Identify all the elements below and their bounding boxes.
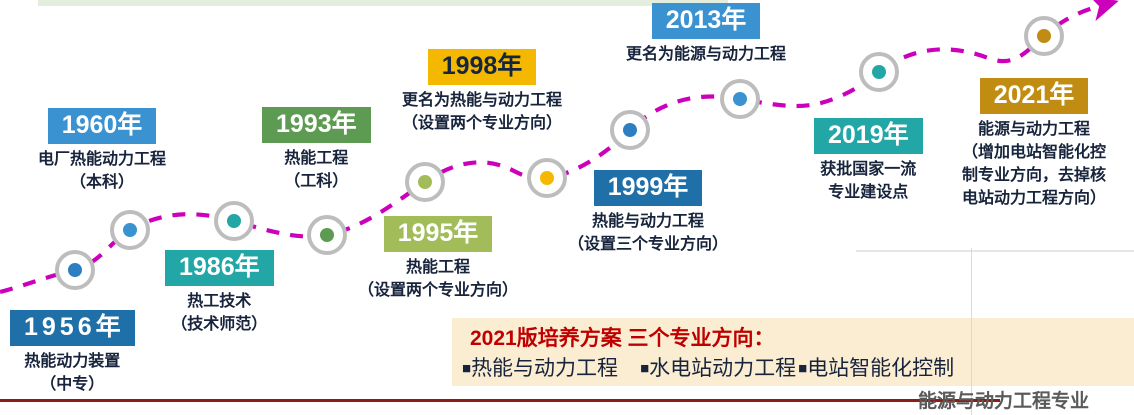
entry-description-line: （工科）	[262, 171, 371, 193]
slide-canvas: 能源与动力工程专业发展历程 1956年热能动力装置（中专）1960年电厂热能动力…	[0, 0, 1134, 415]
timeline-node-1956[interactable]	[55, 250, 95, 290]
timeline-entry-1956[interactable]: 1956年热能动力装置（中专）	[10, 310, 135, 396]
node-dot-icon	[540, 171, 554, 185]
training-plan-item: 电站智能化控制	[807, 357, 954, 380]
timeline-node-1995[interactable]	[405, 162, 445, 202]
timeline-entry-1993[interactable]: 1993年热能工程（工科）	[262, 107, 371, 193]
timeline-node-2013[interactable]	[720, 79, 760, 119]
timeline-node-1998[interactable]	[527, 158, 567, 198]
entry-description-line: （设置两个专业方向）	[402, 113, 562, 135]
entry-description-line: （本科）	[38, 172, 166, 194]
node-dot-icon	[227, 214, 241, 228]
bullet-square-icon: ■	[462, 360, 471, 377]
entry-description-line: （设置两个专业方向）	[358, 280, 518, 302]
entry-description-line: 更名为热能与动力工程	[402, 90, 562, 112]
year-badge-2019[interactable]: 2019年	[814, 118, 923, 154]
timeline-node-1993[interactable]	[307, 215, 347, 255]
timeline-entry-1986[interactable]: 1986年热工技术（技术师范）	[165, 250, 274, 336]
node-dot-icon	[68, 263, 82, 277]
year-badge-1960[interactable]: 1960年	[48, 108, 157, 144]
timeline-entry-1960[interactable]: 1960年电厂热能动力工程（本科）	[38, 108, 166, 194]
year-badge-1986[interactable]: 1986年	[165, 250, 274, 286]
timeline-node-2019[interactable]	[859, 52, 899, 92]
footer-rule	[0, 399, 1000, 402]
training-plan-item: 水电站动力工程	[649, 357, 796, 380]
year-badge-1956[interactable]: 1956年	[10, 310, 135, 346]
node-dot-icon	[123, 223, 137, 237]
entry-description-line: 热工技术	[165, 291, 274, 313]
entry-description-line: 热能与动力工程	[568, 211, 728, 233]
entry-description-line: （设置三个专业方向）	[568, 234, 728, 256]
entry-description-line: 制专业方向，去掉核	[962, 165, 1106, 187]
timeline-node-1960[interactable]	[110, 210, 150, 250]
entry-description-line: 更名为能源与动力工程	[626, 44, 786, 66]
timeline-node-1986[interactable]	[214, 201, 254, 241]
entry-description-line: 热能工程	[358, 257, 518, 279]
year-badge-1998[interactable]: 1998年	[428, 49, 537, 85]
timeline-node-2021[interactable]	[1024, 16, 1064, 56]
year-badge-1995[interactable]: 1995年	[384, 216, 493, 252]
year-badge-1993[interactable]: 1993年	[262, 107, 371, 143]
entry-description-line: （增加电站智能化控	[962, 142, 1106, 164]
node-dot-icon	[320, 228, 334, 242]
corner-divider	[856, 250, 1134, 252]
bullet-square-icon: ■	[640, 360, 649, 377]
timeline-entry-1999[interactable]: 1999年热能与动力工程（设置三个专业方向）	[568, 170, 728, 256]
entry-description-line: 获批国家一流	[814, 159, 923, 181]
year-badge-2021[interactable]: 2021年	[980, 78, 1089, 114]
node-dot-icon	[623, 123, 637, 137]
bullet-square-icon: ■	[798, 360, 807, 377]
timeline-entry-2021[interactable]: 2021年能源与动力工程（增加电站智能化控制专业方向，去掉核电站动力工程方向）	[962, 78, 1106, 210]
timeline-entry-2019[interactable]: 2019年获批国家一流专业建设点	[814, 118, 923, 204]
entry-description-line: （技术师范）	[165, 314, 274, 336]
entry-description-line: 热能工程	[262, 148, 371, 170]
footer-label: 能源与动力工程专业	[918, 386, 1089, 413]
timeline-node-1999[interactable]	[610, 110, 650, 150]
timeline-entry-1995[interactable]: 1995年热能工程（设置两个专业方向）	[358, 216, 518, 302]
year-badge-1999[interactable]: 1999年	[594, 170, 703, 206]
entry-description-line: 能源与动力工程	[962, 119, 1106, 141]
training-plan-items: ■热能与动力工程■水电站动力工程■电站智能化控制	[462, 352, 954, 382]
timeline-entry-1998[interactable]: 1998年更名为热能与动力工程（设置两个专业方向）	[402, 49, 562, 135]
training-plan-title: 2021版培养方案 三个专业方向：	[470, 322, 775, 352]
year-badge-2013[interactable]: 2013年	[652, 3, 761, 39]
node-dot-icon	[1037, 29, 1051, 43]
node-dot-icon	[733, 92, 747, 106]
entry-description-line: 专业建设点	[814, 182, 923, 204]
entry-description-line: （中专）	[10, 374, 135, 396]
entry-description-line: 热能动力装置	[10, 351, 135, 373]
entry-description-line: 电厂热能动力工程	[38, 149, 166, 171]
entry-description-line: 电站动力工程方向）	[962, 188, 1106, 210]
node-dot-icon	[872, 65, 886, 79]
training-plan-item: 热能与动力工程	[471, 357, 618, 380]
node-dot-icon	[418, 175, 432, 189]
timeline-entry-2013[interactable]: 2013年更名为能源与动力工程	[626, 3, 786, 66]
